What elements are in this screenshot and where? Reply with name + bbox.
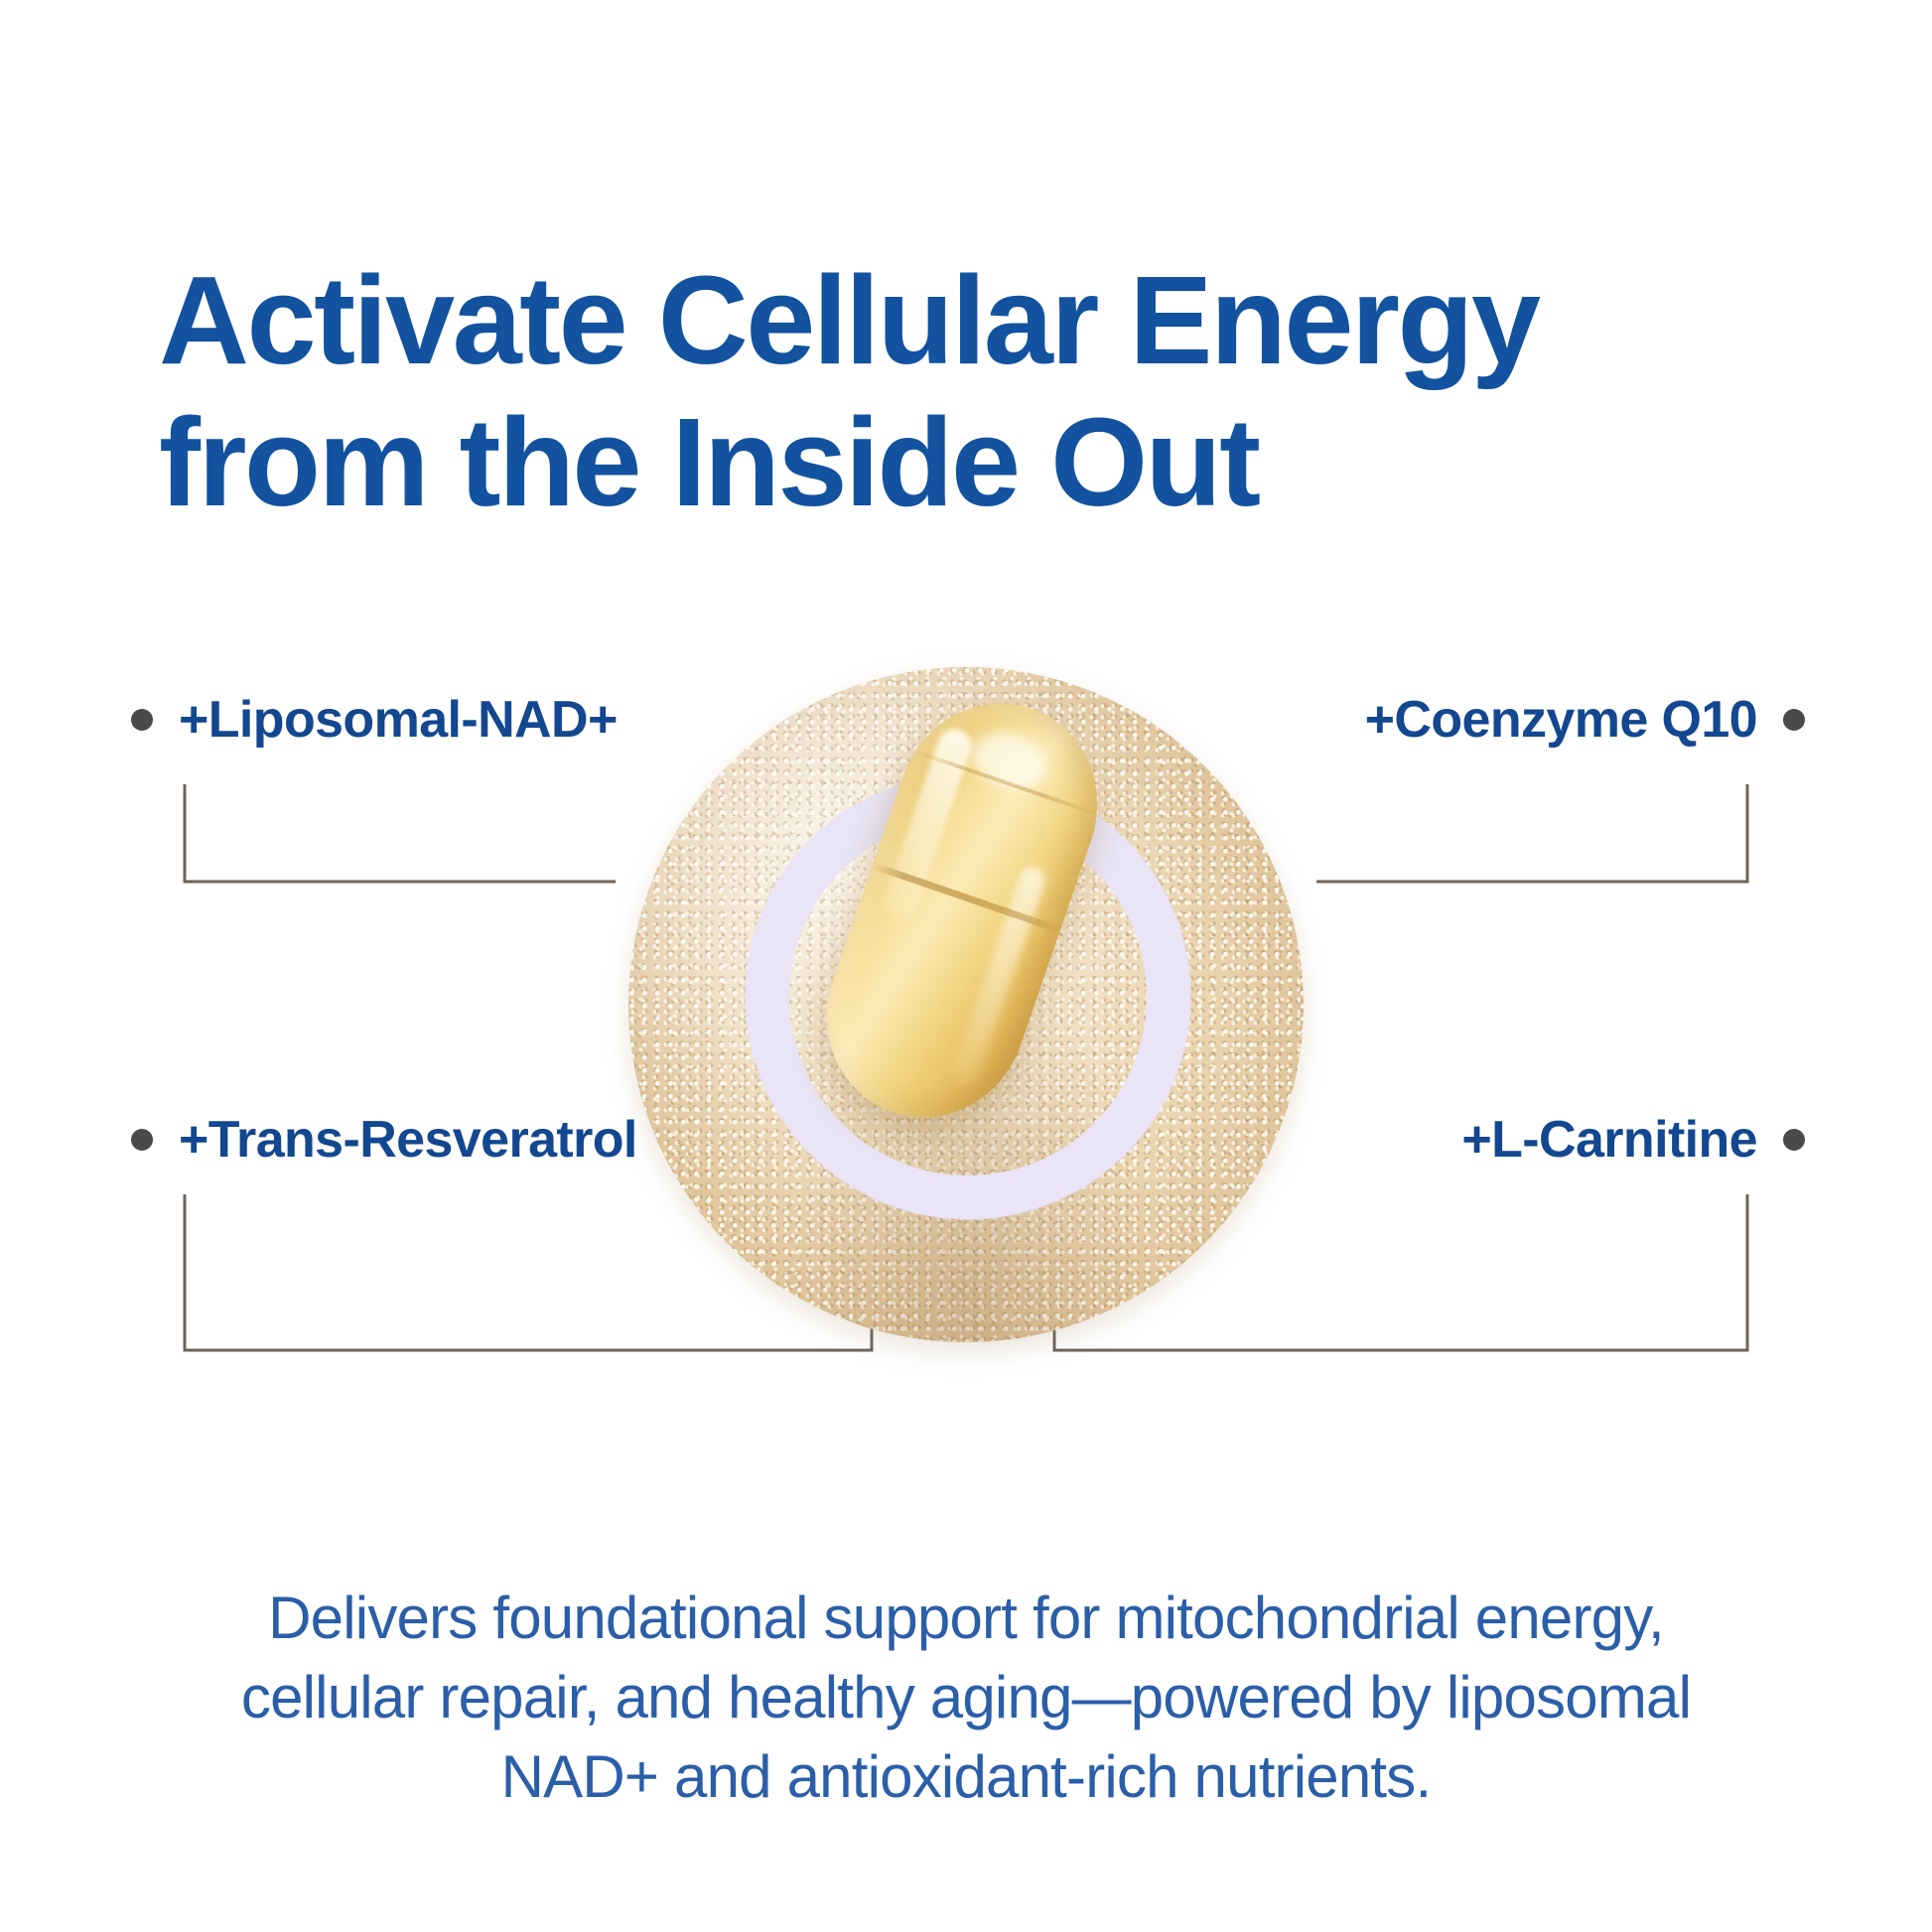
ingredient-label-coenzyme-q10: +Coenzyme Q10 [1365, 690, 1805, 750]
ingredient-label-text: +Liposomal-NAD+ [179, 690, 618, 750]
ingredient-label-text: +L-Carnitine [1461, 1110, 1757, 1170]
product-image [628, 667, 1304, 1342]
ingredient-label-trans-resveratrol: +Trans-Resveratrol [131, 1110, 637, 1170]
infographic-canvas: Activate Cellular Energy from the Inside… [0, 0, 1932, 1932]
description-text: Delivers foundational support for mitoch… [172, 1579, 1760, 1816]
bullet-dot-icon [131, 709, 153, 731]
ingredient-label-text: +Trans-Resveratrol [179, 1110, 637, 1170]
connector-top-right [1316, 784, 1747, 882]
page-title: Activate Cellular Energy from the Inside… [159, 250, 1827, 533]
bullet-dot-icon [131, 1129, 153, 1151]
capsule-highlight-top [965, 723, 1053, 798]
ingredient-label-l-carnitine: +L-Carnitine [1461, 1110, 1805, 1170]
ingredient-label-liposomal-nad: +Liposomal-NAD+ [131, 690, 618, 750]
ingredient-label-text: +Coenzyme Q10 [1365, 690, 1757, 750]
bullet-dot-icon [1783, 709, 1805, 731]
bullet-dot-icon [1783, 1129, 1805, 1151]
connector-top-left [185, 784, 616, 882]
